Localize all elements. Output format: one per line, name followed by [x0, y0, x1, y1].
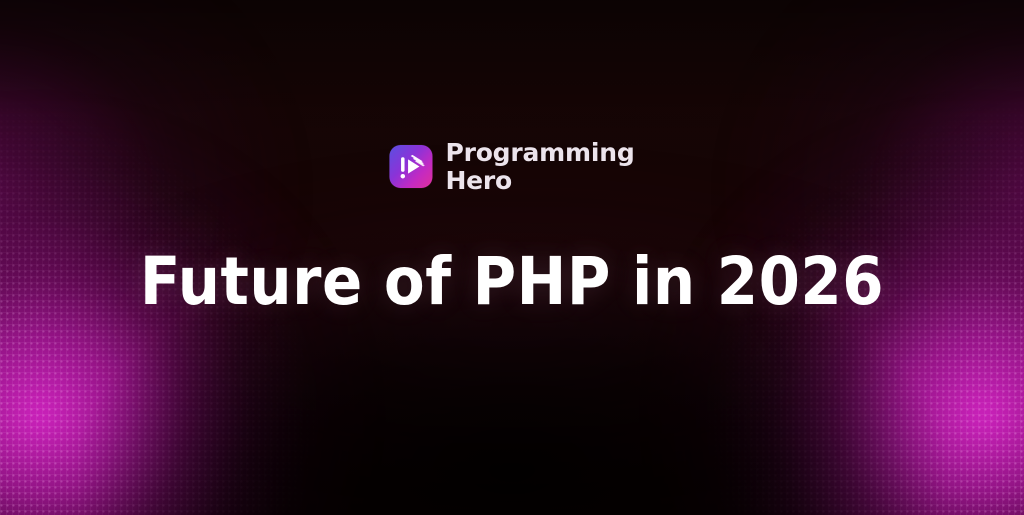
brand-name-line-1: Programming: [445, 140, 634, 165]
slide-headline: Future of PHP in 2026: [0, 248, 1024, 315]
programming-hero-logo-icon: [389, 145, 432, 188]
brand-logo-lockup: Programming Hero: [389, 140, 634, 193]
brand-wordmark: Programming Hero: [445, 140, 634, 193]
brand-name-line-2: Hero: [445, 168, 634, 193]
title-slide: Programming Hero Future of PHP in 2026: [0, 0, 1024, 515]
slide-content: Programming Hero Future of PHP in 2026: [0, 0, 1024, 515]
